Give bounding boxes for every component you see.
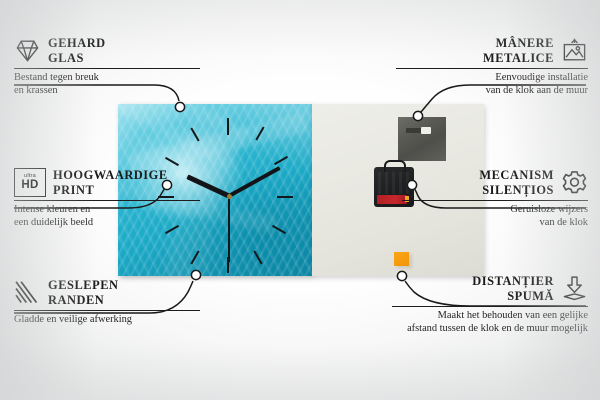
- feature-title-line: GLAS: [48, 51, 106, 66]
- feature-header: DISTANȚIER SPUMĂ: [392, 274, 588, 303]
- feature-desc-line: een duidelijk beeld: [14, 217, 200, 230]
- feature-desc-line: Bestand tegen breuk: [14, 72, 200, 85]
- feature-ground-edges: GESLEPEN RANDEN Gladde en veilige afwerk…: [14, 278, 200, 327]
- clock-second-hand: [228, 196, 230, 262]
- divider: [392, 306, 588, 307]
- feature-description: Eenvoudige installatie van de klok aan d…: [396, 72, 588, 97]
- feature-high-quality-print: ultra HD HOOGWAARDIGE PRINT Intense kleu…: [14, 168, 200, 230]
- feature-desc-line: Geruisloze wijzers: [402, 204, 588, 217]
- divider: [402, 200, 588, 201]
- feature-header: ultra HD HOOGWAARDIGE PRINT: [14, 168, 200, 197]
- feature-title-line: HOOGWAARDIGE: [53, 168, 168, 183]
- ground-edges-icon: [14, 279, 41, 306]
- clock-tick: [277, 196, 293, 198]
- feature-title-line: METALICE: [483, 51, 554, 66]
- hd-badge-hd: HD: [21, 180, 38, 192]
- divider: [396, 68, 588, 69]
- feature-metal-handles: MÂNERE METALICE Eenvoudige installatie v…: [396, 36, 588, 98]
- feature-title-line: RANDEN: [48, 293, 119, 308]
- divider: [14, 310, 200, 311]
- feature-title-line: MECANISM: [479, 168, 554, 183]
- feature-title-line: GESLEPEN: [48, 278, 119, 293]
- feature-header: GESLEPEN RANDEN: [14, 278, 200, 307]
- foam-spacer-pad: [394, 252, 409, 266]
- ultra-hd-icon: ultra HD: [14, 168, 46, 197]
- feature-title: GESLEPEN RANDEN: [48, 278, 119, 307]
- feature-description: Maakt het behouden van een gelijke afsta…: [392, 310, 588, 335]
- feature-title: DISTANȚIER SPUMĂ: [472, 274, 554, 303]
- feature-desc-line: Eenvoudige installatie: [396, 72, 588, 85]
- feature-foam-spacer: DISTANȚIER SPUMĂ Maakt het behouden van …: [392, 274, 588, 336]
- feature-tempered-glass: GEHARD GLAS Bestand tegen breuk en krass…: [14, 36, 200, 98]
- feature-header: MÂNERE METALICE: [396, 36, 588, 65]
- feature-title-line: SILENȚIOS: [479, 183, 554, 198]
- spacer-arrow-icon: [561, 275, 588, 302]
- feature-title: MÂNERE METALICE: [483, 36, 554, 65]
- feature-title: MECANISM SILENȚIOS: [479, 168, 554, 197]
- diamond-icon: [14, 37, 41, 64]
- feature-desc-line: Maakt het behouden van een gelijke: [392, 310, 588, 323]
- feature-header: GEHARD GLAS: [14, 36, 200, 65]
- feature-title-line: SPUMĂ: [472, 289, 554, 304]
- feature-header: MECANISM SILENȚIOS: [402, 168, 588, 197]
- feature-title-line: GEHARD: [48, 36, 106, 51]
- gear-icon: [561, 169, 588, 196]
- clock-center-hub: [227, 194, 232, 199]
- feature-desc-line: en krassen: [14, 85, 200, 98]
- clock-tick: [227, 118, 229, 135]
- wall-mount-picture-icon: [561, 37, 588, 64]
- feature-title-line: MÂNERE: [483, 36, 554, 51]
- feature-title: GEHARD GLAS: [48, 36, 106, 65]
- feature-description: Bestand tegen breuk en krassen: [14, 72, 200, 97]
- feature-description: Gladde en veilige afwerking: [14, 314, 200, 327]
- feature-title-line: PRINT: [53, 183, 168, 198]
- feature-silent-mechanism: MECANISM SILENȚIOS Geruisloze wijzers va…: [402, 168, 588, 230]
- feature-description: Intense kleuren en een duidelijk beeld: [14, 204, 200, 229]
- feature-desc-line: afstand tussen de klok en de muur mogeli…: [392, 323, 588, 336]
- infographic-canvas: GEHARD GLAS Bestand tegen breuk en krass…: [0, 0, 600, 400]
- feature-desc-line: van de klok aan de muur: [396, 85, 588, 98]
- metal-hanger-plate: [398, 117, 446, 161]
- divider: [14, 200, 200, 201]
- feature-desc-line: van de klok: [402, 217, 588, 230]
- feature-title: HOOGWAARDIGE PRINT: [53, 168, 168, 197]
- feature-description: Geruisloze wijzers van de klok: [402, 204, 588, 229]
- feature-desc-line: Intense kleuren en: [14, 204, 200, 217]
- feature-title-line: DISTANȚIER: [472, 274, 554, 289]
- feature-desc-line: Gladde en veilige afwerking: [14, 314, 200, 327]
- hanger-slot: [406, 128, 431, 133]
- divider: [14, 68, 200, 69]
